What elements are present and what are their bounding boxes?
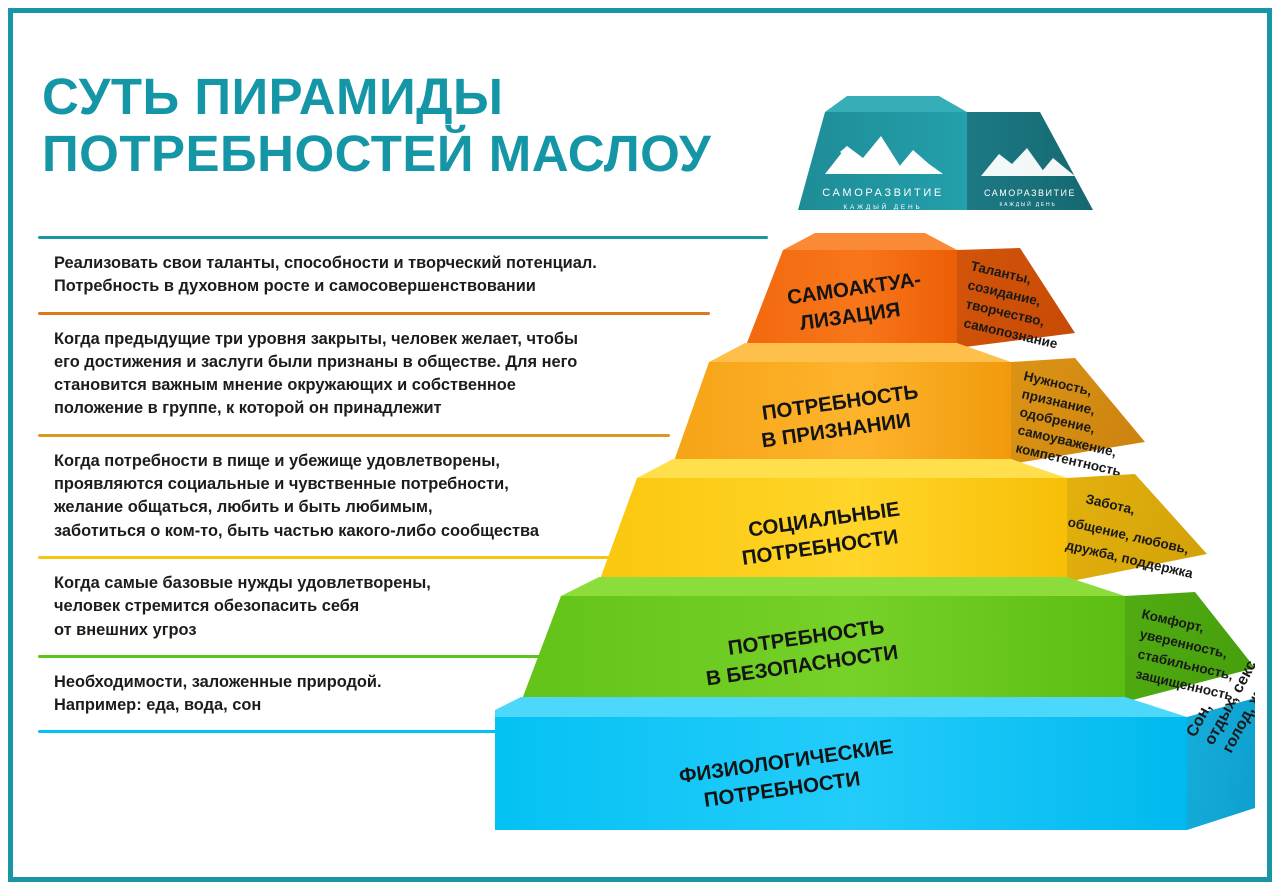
level-top-face — [637, 459, 1067, 478]
maslow-pyramid: САМОРАЗВИТИЕ КАЖДЫЙ ДЕНЬ САМОРАЗВИТИЕ КА… — [495, 78, 1255, 868]
pyramid-level-esteem[interactable]: ПОТРЕБНОСТЬ В ПРИЗНАНИИ Нужность, призна… — [673, 343, 1145, 479]
logo-tagline-side: КАЖДЫЙ ДЕНЬ — [999, 200, 1056, 208]
logo-top-face — [825, 96, 967, 112]
logo-tagline: КАЖДЫЙ ДЕНЬ — [843, 202, 922, 211]
logo-cap: САМОРАЗВИТИЕ КАЖДЫЙ ДЕНЬ САМОРАЗВИТИЕ КА… — [798, 96, 1093, 211]
pyramid-level-safety[interactable]: ПОТРЕБНОСТЬ В БЕЗОПАСНОСТИ Комфорт, увер… — [521, 577, 1255, 704]
level-top-face — [561, 577, 1125, 596]
level-front-face — [599, 478, 1067, 582]
logo-brand: САМОРАЗВИТИЕ — [822, 187, 944, 199]
level-front-face — [521, 596, 1125, 702]
block-rule-bottom — [38, 730, 514, 733]
pyramid-level-self-actualization[interactable]: САМОАКТУА- ЛИЗАЦИЯ Таланты, созидание, т… — [745, 233, 1075, 352]
maslow-pyramid-poster: СУТЬ ПИРАМИДЫ ПОТРЕБНОСТЕЙ МАСЛОУ Реализ… — [0, 0, 1280, 890]
level-top-face — [495, 697, 1187, 717]
logo-brand-side: САМОРАЗВИТИЕ — [984, 188, 1076, 198]
page-title-line-1: СУТЬ ПИРАМИДЫ — [42, 68, 503, 125]
pyramid-level-social[interactable]: СОЦИАЛЬНЫЕ ПОТРЕБНОСТИ Забота, общение, … — [599, 459, 1207, 582]
